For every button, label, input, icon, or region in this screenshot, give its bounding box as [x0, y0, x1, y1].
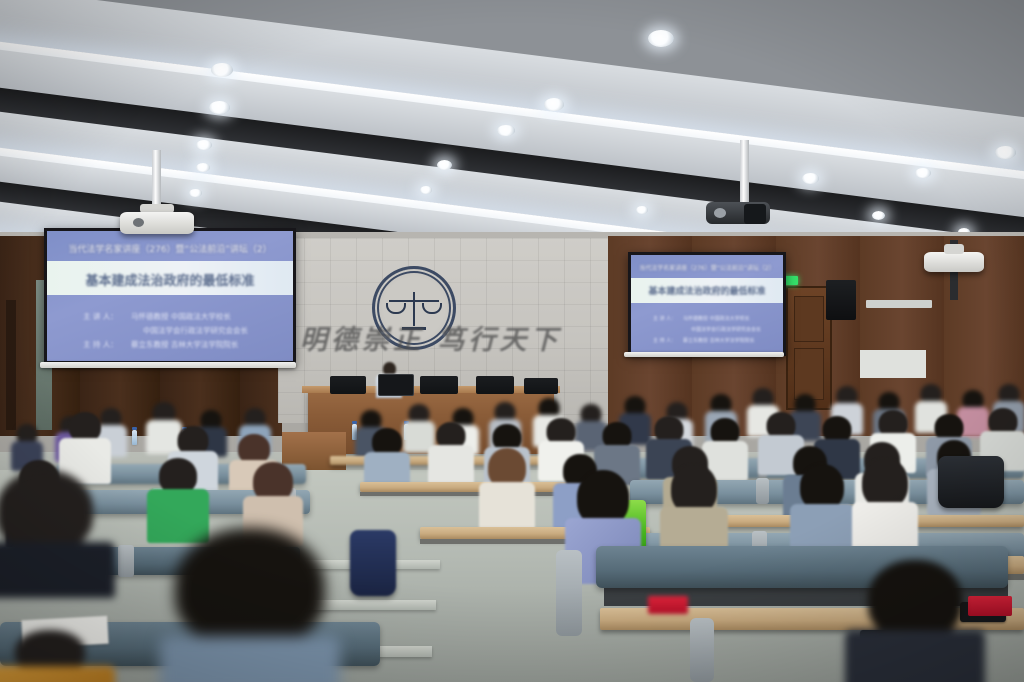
projector-right [918, 200, 998, 280]
foreground-person-right [850, 560, 980, 682]
slide-host-name: 蔡立东教授 吉林大学法学院院长 [683, 337, 755, 344]
wall-cabinet [860, 350, 926, 378]
ceiling-downlight [544, 98, 564, 111]
ceiling-downlight [497, 125, 515, 136]
student [794, 464, 850, 558]
slide-speaker-label: 主 讲 人： [653, 315, 676, 322]
slide-speaker-label: 主 讲 人： [83, 311, 118, 322]
slide-speaker-affiliation: 中国法学会行政法学研究会会长 [691, 326, 761, 333]
ceiling-downlight [636, 206, 648, 214]
ceiling-downlight [648, 30, 674, 47]
slide-series-line: 当代法学名家讲座（276）暨“公法前沿”讲坛（2） [47, 242, 293, 255]
wall-calligraphy: 明德崇正 笃行天下 [300, 318, 550, 364]
red-item [648, 596, 688, 614]
ceiling-downlight [420, 186, 432, 194]
wall-speaker [826, 280, 856, 320]
projector-left [120, 150, 200, 230]
slide-host-label: 主 持 人： [83, 339, 118, 350]
ceiling-downlight [802, 173, 819, 184]
ceiling-downlight [211, 63, 233, 77]
ceiling-downlight [196, 140, 212, 150]
slide-headline: 基本建成法治政府的最低标准 [47, 270, 293, 289]
foreground-person-left-lower [0, 630, 110, 682]
projection-screen-left: 当代法学名家讲座（276）暨“公法前沿”讲坛（2） 基本建成法治政府的最低标准 … [44, 228, 296, 364]
student [856, 458, 914, 554]
slide-series-line: 当代法学名家讲座（276）暨“公法前沿”讲坛（2） [631, 263, 783, 272]
slide-speaker-affiliation: 中国法学会行政法学研究会会长 [143, 325, 248, 336]
ceiling-downlight [915, 168, 931, 178]
slide-headline: 基本建成法治政府的最低标准 [631, 284, 783, 297]
ceiling-downlight [872, 211, 885, 220]
ceiling-downlight [209, 101, 230, 114]
foreground-person-left [0, 470, 110, 590]
slide-host-name: 蔡立东教授 吉林大学法学院院长 [131, 339, 238, 350]
lecture-hall-photo: 明德崇正 笃行天下 当代法学名家讲座（276）暨“公法前沿”讲坛（2） 基本建成… [0, 0, 1024, 682]
foreground-person-center [170, 528, 330, 682]
ceiling-downlight [995, 146, 1016, 159]
ceiling-downlight [437, 160, 452, 170]
screen-roller-right [624, 352, 784, 357]
screen-roller-left [40, 362, 296, 368]
wall-vent [866, 300, 932, 308]
projector-center [700, 140, 780, 230]
slide-speaker-name: 马怀德教授 中国政法大学校长 [131, 311, 231, 322]
projection-screen-right: 当代法学名家讲座（276）暨“公法前沿”讲坛（2） 基本建成法治政府的最低标准 … [628, 252, 786, 356]
slide-host-label: 主 持 人： [653, 337, 676, 344]
slide-speaker-name: 马怀德教授 中国政法大学校长 [683, 315, 750, 322]
